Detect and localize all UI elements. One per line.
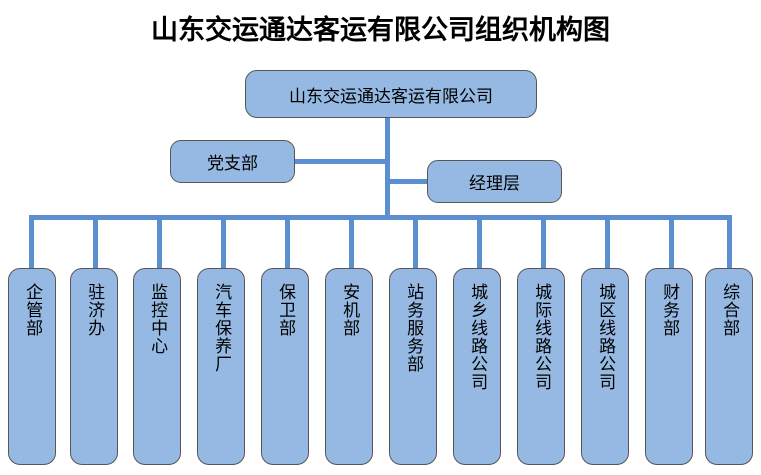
org-node-department-8[interactable]: 城乡线路公司 [453, 268, 501, 465]
connector-drop-1 [29, 215, 34, 271]
connector-drop-3 [157, 215, 162, 271]
connector-drop-9 [541, 215, 546, 271]
connector-drop-8 [477, 215, 482, 271]
department-label: 站务服务部 [404, 283, 422, 373]
connector-drop-6 [349, 215, 354, 271]
org-node-department-9[interactable]: 城际线路公司 [517, 268, 565, 465]
org-node-department-11[interactable]: 财务部 [645, 268, 693, 465]
org-node-party-branch[interactable]: 党支部 [170, 140, 295, 183]
org-node-department-3[interactable]: 监控中心 [133, 268, 181, 465]
org-node-department-5[interactable]: 保卫部 [261, 268, 309, 465]
org-node-department-1[interactable]: 企管部 [8, 268, 56, 465]
department-label: 企管部 [23, 283, 41, 337]
connector-drop-11 [669, 215, 674, 271]
connector-drop-4 [221, 215, 226, 271]
org-node-department-7[interactable]: 站务服务部 [389, 268, 437, 465]
org-node-department-12[interactable]: 综合部 [705, 268, 753, 465]
department-label: 城乡线路公司 [468, 283, 486, 391]
connector-root-trunk [385, 118, 390, 218]
org-node-management-layer[interactable]: 经理层 [427, 160, 562, 203]
page-title: 山东交运通达客运有限公司组织机构图 [0, 8, 761, 47]
department-label: 综合部 [720, 283, 738, 337]
connector-to-party-branch [293, 159, 387, 164]
department-label: 驻济办 [85, 283, 103, 337]
connector-drop-7 [413, 215, 418, 271]
department-label: 汽车保养厂 [212, 283, 230, 373]
connector-drop-5 [285, 215, 290, 271]
department-label: 监控中心 [148, 283, 166, 355]
org-node-department-10[interactable]: 城区线路公司 [581, 268, 629, 465]
connector-to-management [385, 179, 429, 184]
department-label: 财务部 [660, 283, 678, 337]
org-node-department-6[interactable]: 安机部 [325, 268, 373, 465]
department-label: 保卫部 [276, 283, 294, 337]
connector-department-bus [29, 215, 732, 220]
org-node-department-2[interactable]: 驻济办 [70, 268, 118, 465]
connector-drop-12 [727, 215, 732, 271]
connector-drop-10 [605, 215, 610, 271]
org-chart-canvas: 山东交运通达客运有限公司组织机构图 山东交运通达客运有限公司 党支部 经理层 企… [0, 0, 761, 475]
department-label: 安机部 [340, 283, 358, 337]
connector-drop-2 [93, 215, 98, 271]
org-node-department-4[interactable]: 汽车保养厂 [197, 268, 245, 465]
department-label: 城际线路公司 [532, 283, 550, 391]
org-node-company-root[interactable]: 山东交运通达客运有限公司 [245, 70, 537, 118]
department-label: 城区线路公司 [596, 283, 614, 391]
